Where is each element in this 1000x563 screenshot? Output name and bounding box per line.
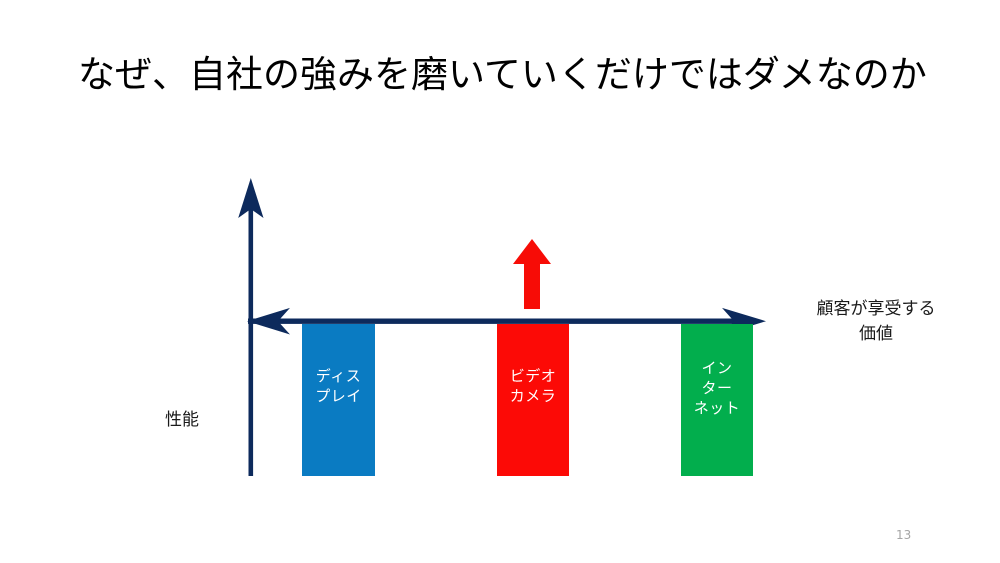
x-axis-title-line1: 顧客が享受する bbox=[817, 299, 936, 319]
red-up-arrow-icon bbox=[513, 239, 551, 309]
bar-video-camera-label-line1: ビデオ bbox=[510, 367, 557, 385]
slide-canvas: なぜ、自社の強みを磨いていくだけではダメなのか ディスプレイ ビデオカメラ bbox=[0, 0, 1000, 563]
page-number: 13 bbox=[896, 528, 936, 542]
bar-display-label: ディスプレイ bbox=[315, 366, 362, 434]
bar-video-camera-label: ビデオカメラ bbox=[510, 366, 557, 434]
x-axis-title: 顧客が享受する 価値 bbox=[776, 297, 976, 347]
bar-internet-label-line1: イン bbox=[701, 359, 732, 377]
bar-internet: インターネット bbox=[681, 324, 753, 476]
y-axis-title: 性能 bbox=[122, 408, 242, 433]
diagram-axes-layer bbox=[0, 0, 1000, 563]
bar-internet-label-line3: ネット bbox=[694, 399, 741, 417]
bar-video-camera: ビデオカメラ bbox=[497, 324, 569, 476]
axes-svg bbox=[0, 0, 1000, 563]
bar-display-label-line1: ディス bbox=[316, 367, 361, 385]
bar-video-camera-label-line2: カメラ bbox=[510, 387, 557, 405]
bar-internet-label-line2: ター bbox=[701, 379, 732, 397]
bar-internet-label: インターネット bbox=[694, 358, 741, 442]
bar-display-label-line2: プレイ bbox=[315, 387, 362, 405]
bar-display: ディスプレイ bbox=[302, 324, 375, 476]
x-axis-title-line2: 価値 bbox=[859, 324, 893, 344]
